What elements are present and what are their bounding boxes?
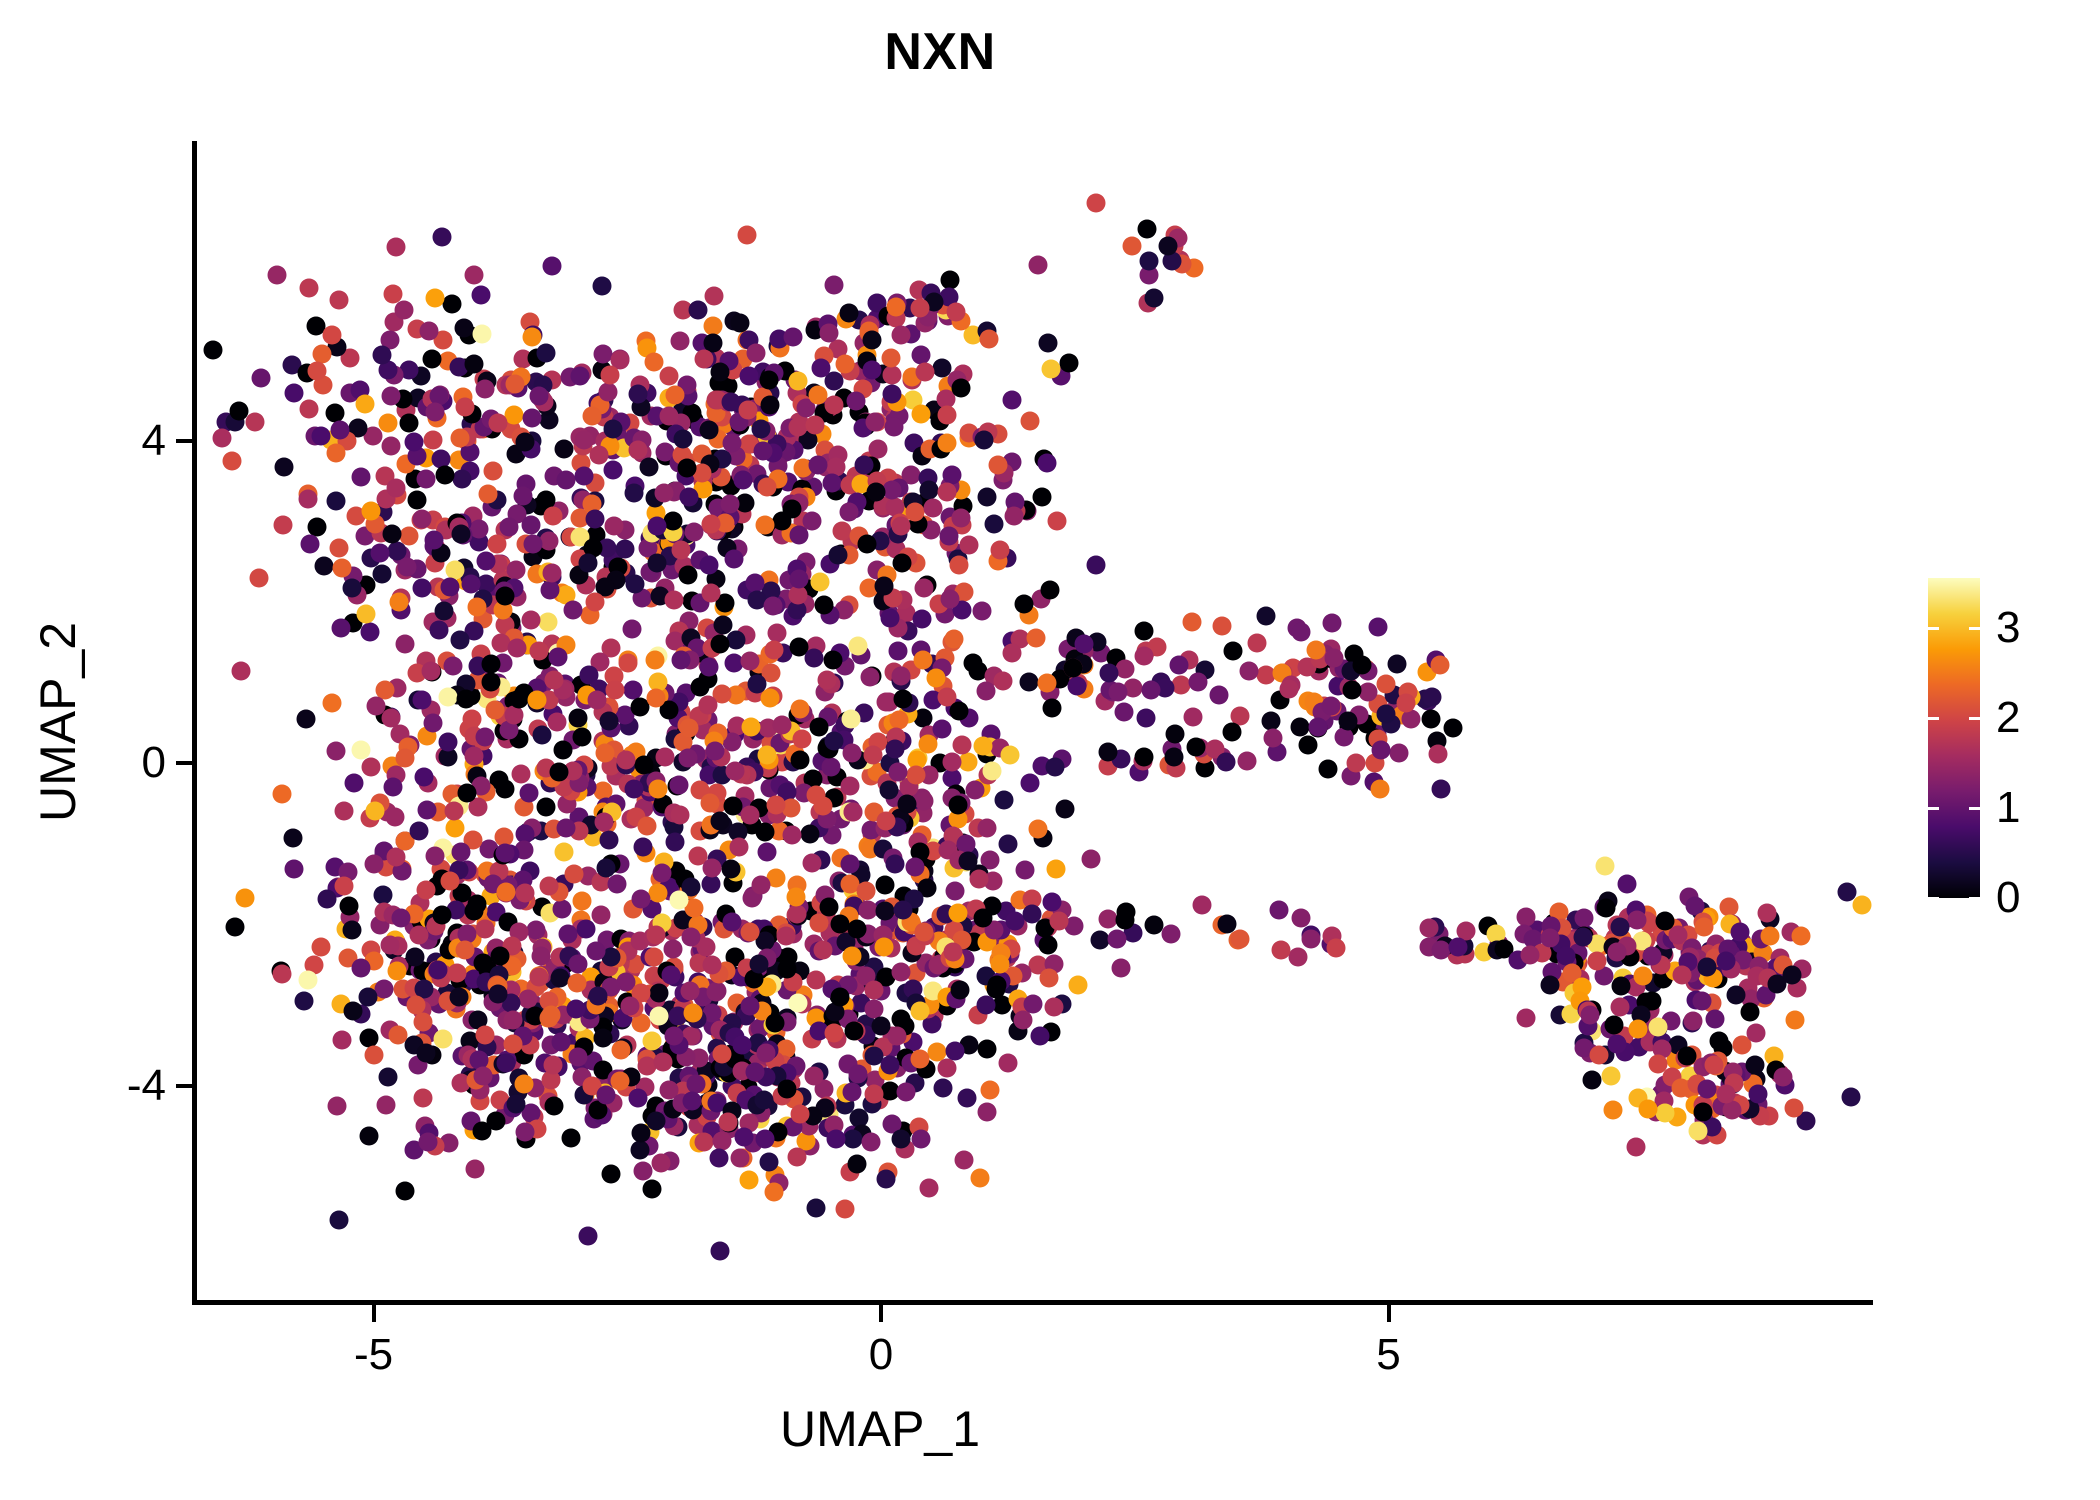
scatter-point bbox=[765, 640, 784, 659]
scatter-point bbox=[301, 535, 320, 554]
scatter-point bbox=[1116, 659, 1135, 678]
scatter-point bbox=[465, 1159, 484, 1178]
scatter-point bbox=[343, 1001, 362, 1020]
scatter-point bbox=[655, 483, 674, 502]
scatter-point bbox=[604, 516, 623, 535]
scatter-point bbox=[495, 844, 514, 863]
scatter-point bbox=[865, 1084, 884, 1103]
scatter-point bbox=[327, 491, 346, 510]
scatter-point bbox=[391, 908, 410, 927]
scatter-point bbox=[1159, 236, 1178, 255]
scatter-point bbox=[586, 509, 605, 528]
scatter-point bbox=[1626, 1138, 1645, 1157]
scatter-point bbox=[836, 1199, 855, 1218]
scatter-point bbox=[621, 997, 640, 1016]
scatter-point bbox=[860, 668, 879, 687]
scatter-point bbox=[765, 1183, 784, 1202]
scatter-point bbox=[952, 378, 971, 397]
scatter-point bbox=[938, 482, 957, 501]
scatter-point bbox=[252, 369, 271, 388]
scatter-point bbox=[568, 1047, 587, 1066]
scatter-point bbox=[841, 855, 860, 874]
scatter-point bbox=[622, 619, 641, 638]
scatter-point bbox=[484, 462, 503, 481]
scatter-point bbox=[1587, 952, 1606, 971]
scatter-point bbox=[978, 819, 997, 838]
scatter-point bbox=[1029, 255, 1048, 274]
scatter-point bbox=[585, 592, 604, 611]
scatter-point bbox=[296, 709, 315, 728]
scatter-point bbox=[567, 974, 586, 993]
scatter-point bbox=[1145, 289, 1164, 308]
scatter-point bbox=[523, 328, 542, 347]
scatter-point bbox=[1401, 710, 1420, 729]
scatter-point bbox=[1678, 1047, 1697, 1066]
scatter-point bbox=[597, 859, 616, 878]
scatter-point bbox=[919, 1178, 938, 1197]
scatter-point bbox=[1111, 959, 1130, 978]
scatter-point bbox=[417, 800, 436, 819]
x-tick-mark bbox=[1387, 1305, 1391, 1322]
scatter-point bbox=[713, 1045, 732, 1064]
scatter-point bbox=[777, 960, 796, 979]
scatter-point bbox=[1001, 746, 1020, 765]
scatter-point bbox=[938, 405, 957, 424]
scatter-point bbox=[1264, 728, 1283, 747]
scatter-point bbox=[654, 1053, 673, 1072]
scatter-point bbox=[477, 552, 496, 571]
scatter-point bbox=[990, 955, 1009, 974]
scatter-point bbox=[1239, 662, 1258, 681]
scatter-point bbox=[777, 926, 796, 945]
scatter-point bbox=[700, 556, 719, 575]
scatter-point bbox=[710, 1148, 729, 1167]
scatter-point bbox=[876, 902, 895, 921]
scatter-point bbox=[671, 540, 690, 559]
scatter-point bbox=[914, 923, 933, 942]
scatter-point bbox=[413, 579, 432, 598]
scatter-point bbox=[783, 327, 802, 346]
scatter-point bbox=[856, 882, 875, 901]
scatter-point bbox=[373, 885, 392, 904]
scatter-point bbox=[512, 765, 531, 784]
scatter-point bbox=[479, 484, 498, 503]
scatter-point bbox=[710, 634, 729, 653]
scatter-point bbox=[351, 959, 370, 978]
colorbar-tick-label: 1 bbox=[1996, 783, 2020, 833]
scatter-point bbox=[1090, 931, 1109, 950]
scatter-point bbox=[567, 1000, 586, 1019]
scatter-point bbox=[395, 1182, 414, 1201]
scatter-point bbox=[801, 824, 820, 843]
scatter-point bbox=[701, 794, 720, 813]
scatter-point bbox=[883, 366, 902, 385]
scatter-point bbox=[424, 530, 443, 549]
scatter-point bbox=[953, 735, 972, 754]
x-tick-label: 5 bbox=[1309, 1330, 1469, 1380]
scatter-point bbox=[497, 883, 516, 902]
scatter-point bbox=[615, 539, 634, 558]
scatter-point bbox=[557, 818, 576, 837]
scatter-point bbox=[544, 1097, 563, 1116]
scatter-point bbox=[1193, 896, 1212, 915]
scatter-point bbox=[394, 301, 413, 320]
scatter-point bbox=[937, 433, 956, 452]
scatter-point bbox=[806, 416, 825, 435]
scatter-point bbox=[824, 650, 843, 669]
scatter-point bbox=[911, 1002, 930, 1021]
scatter-point bbox=[1608, 942, 1627, 961]
scatter-point bbox=[820, 897, 839, 916]
colorbar-tick-mark bbox=[1969, 807, 1980, 810]
scatter-point bbox=[732, 1035, 751, 1054]
scatter-point bbox=[887, 1026, 906, 1045]
scatter-point bbox=[578, 554, 597, 573]
scatter-point bbox=[738, 225, 757, 244]
scatter-point bbox=[1338, 712, 1357, 731]
scatter-point bbox=[544, 507, 563, 526]
scatter-point bbox=[212, 429, 231, 448]
scatter-point bbox=[1004, 507, 1023, 526]
scatter-point bbox=[950, 980, 969, 999]
scatter-point bbox=[330, 538, 349, 557]
y-tick-label: 4 bbox=[46, 416, 166, 466]
scatter-point bbox=[506, 1094, 525, 1113]
scatter-point bbox=[381, 708, 400, 727]
scatter-point bbox=[245, 412, 264, 431]
scatter-point bbox=[445, 802, 464, 821]
scatter-point bbox=[399, 413, 418, 432]
scatter-point bbox=[1420, 918, 1439, 937]
scatter-point bbox=[735, 1127, 754, 1146]
scatter-point bbox=[358, 988, 377, 1007]
colorbar-tick-label: 0 bbox=[1996, 873, 2020, 923]
scatter-point bbox=[1444, 718, 1463, 737]
scatter-point bbox=[426, 846, 445, 865]
colorbar-tick-mark bbox=[1969, 717, 1980, 720]
scatter-point bbox=[1748, 1085, 1767, 1104]
scatter-point bbox=[553, 900, 572, 919]
scatter-point bbox=[631, 1140, 650, 1159]
scatter-point bbox=[824, 276, 843, 295]
scatter-point bbox=[824, 395, 843, 414]
scatter-point bbox=[1327, 938, 1346, 957]
scatter-point bbox=[883, 385, 902, 404]
scatter-point bbox=[843, 1130, 862, 1149]
scatter-point bbox=[885, 854, 904, 873]
scatter-point bbox=[670, 331, 689, 350]
scatter-point bbox=[1021, 774, 1040, 793]
scatter-point bbox=[366, 801, 385, 820]
scatter-point bbox=[1038, 674, 1057, 693]
x-tick-mark bbox=[879, 1305, 883, 1322]
scatter-point bbox=[516, 1123, 535, 1142]
scatter-point bbox=[1757, 904, 1776, 923]
scatter-point bbox=[740, 923, 759, 942]
scatter-point bbox=[1643, 947, 1662, 966]
scatter-point bbox=[633, 837, 652, 856]
scatter-point bbox=[637, 817, 656, 836]
scatter-point bbox=[814, 796, 833, 815]
scatter-point bbox=[674, 429, 693, 448]
scatter-point bbox=[361, 501, 380, 520]
scatter-point bbox=[1605, 1015, 1624, 1034]
scatter-point bbox=[924, 498, 943, 517]
scatter-point bbox=[817, 670, 836, 689]
scatter-point bbox=[423, 349, 442, 368]
scatter-point bbox=[575, 466, 594, 485]
scatter-point bbox=[522, 610, 541, 629]
scatter-point bbox=[979, 330, 998, 349]
scatter-point bbox=[469, 798, 488, 817]
scatter-point bbox=[603, 419, 622, 438]
scatter-point bbox=[343, 921, 362, 940]
scatter-point bbox=[283, 828, 302, 847]
scatter-point bbox=[990, 541, 1009, 560]
scatter-point bbox=[948, 903, 967, 922]
scatter-point bbox=[1033, 488, 1052, 507]
scatter-point bbox=[739, 367, 758, 386]
scatter-point bbox=[495, 587, 514, 606]
scatter-point bbox=[1031, 1026, 1050, 1045]
scatter-point bbox=[847, 920, 866, 939]
x-tick-mark bbox=[372, 1305, 376, 1322]
scatter-point bbox=[950, 702, 969, 721]
scatter-point bbox=[773, 716, 792, 735]
scatter-point bbox=[1541, 976, 1560, 995]
scatter-point bbox=[1740, 1003, 1759, 1022]
scatter-point bbox=[858, 901, 877, 920]
scatter-point bbox=[482, 654, 501, 673]
scatter-point bbox=[881, 1056, 900, 1075]
scatter-point bbox=[1704, 1055, 1723, 1074]
scatter-point bbox=[548, 713, 567, 732]
scatter-point bbox=[748, 674, 767, 693]
scatter-point bbox=[617, 751, 636, 770]
scatter-point bbox=[1695, 918, 1714, 937]
scatter-point bbox=[809, 914, 828, 933]
scatter-point bbox=[910, 298, 929, 317]
x-tick-label: -5 bbox=[294, 1330, 454, 1380]
scatter-point bbox=[664, 940, 683, 959]
colorbar-tick-label: 3 bbox=[1996, 603, 2020, 653]
scatter-point bbox=[864, 980, 883, 999]
scatter-point bbox=[1162, 925, 1181, 944]
scatter-point bbox=[576, 920, 595, 939]
scatter-point bbox=[1322, 697, 1341, 716]
scatter-point bbox=[572, 727, 591, 746]
scatter-point bbox=[1134, 647, 1153, 666]
scatter-point bbox=[579, 1226, 598, 1245]
scatter-point bbox=[1075, 634, 1094, 653]
scatter-point bbox=[444, 656, 463, 675]
scatter-point bbox=[865, 412, 884, 431]
scatter-point bbox=[843, 947, 862, 966]
scatter-point bbox=[874, 576, 893, 595]
scatter-point bbox=[556, 471, 575, 490]
scatter-point bbox=[791, 750, 810, 769]
scatter-point bbox=[1791, 927, 1810, 946]
scatter-point bbox=[1747, 1024, 1766, 1043]
scatter-point bbox=[408, 490, 427, 509]
scatter-point bbox=[644, 353, 663, 372]
x-axis-line bbox=[192, 1300, 1873, 1305]
scatter-point bbox=[1698, 958, 1717, 977]
scatter-point bbox=[839, 503, 858, 522]
scatter-point bbox=[1188, 673, 1207, 692]
scatter-point bbox=[723, 912, 742, 931]
scatter-point bbox=[1557, 947, 1576, 966]
scatter-point bbox=[910, 1050, 929, 1069]
scatter-point bbox=[987, 975, 1006, 994]
scatter-point bbox=[322, 325, 341, 344]
scatter-point bbox=[977, 487, 996, 506]
scatter-point bbox=[760, 689, 779, 708]
scatter-point bbox=[544, 670, 563, 689]
colorbar-tick-mark bbox=[1928, 897, 1939, 900]
scatter-point bbox=[1786, 1011, 1805, 1030]
scatter-point bbox=[298, 489, 317, 508]
scatter-point bbox=[906, 765, 925, 784]
scatter-point bbox=[877, 812, 896, 831]
scatter-point bbox=[519, 784, 538, 803]
colorbar-tick-mark bbox=[1928, 627, 1939, 630]
scatter-point bbox=[749, 954, 768, 973]
scatter-point bbox=[876, 693, 895, 712]
scatter-point bbox=[1247, 633, 1266, 652]
scatter-point bbox=[933, 1078, 952, 1097]
scatter-point bbox=[600, 711, 619, 730]
scatter-point bbox=[410, 822, 429, 841]
scatter-point bbox=[551, 1033, 570, 1052]
scatter-point bbox=[456, 397, 475, 416]
scatter-point bbox=[651, 1153, 670, 1172]
scatter-point bbox=[947, 302, 966, 321]
scatter-point bbox=[1618, 874, 1637, 893]
scatter-point bbox=[766, 1014, 785, 1033]
scatter-point bbox=[472, 1122, 491, 1141]
scatter-point bbox=[1050, 911, 1069, 930]
scatter-point bbox=[1142, 681, 1161, 700]
scatter-point bbox=[940, 589, 959, 608]
scatter-point bbox=[687, 1075, 706, 1094]
scatter-point bbox=[812, 359, 831, 378]
scatter-point bbox=[322, 693, 341, 712]
scatter-point bbox=[755, 1090, 774, 1109]
scatter-point bbox=[912, 405, 931, 424]
scatter-point bbox=[372, 345, 391, 364]
scatter-point bbox=[457, 783, 476, 802]
scatter-point bbox=[702, 584, 721, 603]
scatter-point bbox=[505, 705, 524, 724]
scatter-point bbox=[515, 1074, 534, 1093]
scatter-point bbox=[574, 430, 593, 449]
scatter-point bbox=[757, 745, 776, 764]
scatter-point bbox=[433, 227, 452, 246]
scatter-point bbox=[1611, 976, 1630, 995]
scatter-point bbox=[1688, 1122, 1707, 1141]
scatter-point bbox=[1164, 748, 1183, 767]
scatter-point bbox=[960, 535, 979, 554]
scatter-point bbox=[964, 654, 983, 673]
scatter-point bbox=[1140, 251, 1159, 270]
scatter-point bbox=[1429, 745, 1448, 764]
scatter-point bbox=[655, 748, 674, 767]
scatter-point bbox=[489, 414, 508, 433]
scatter-point bbox=[1369, 617, 1388, 636]
scatter-point bbox=[562, 1129, 581, 1148]
scatter-point bbox=[951, 509, 970, 528]
scatter-point bbox=[915, 579, 934, 598]
scatter-point bbox=[465, 747, 484, 766]
scatter-point bbox=[452, 470, 471, 489]
scatter-point bbox=[572, 891, 591, 910]
scatter-point bbox=[832, 522, 851, 541]
scatter-point bbox=[531, 946, 550, 965]
scatter-point bbox=[357, 604, 376, 623]
scatter-point bbox=[699, 657, 718, 676]
scatter-point bbox=[388, 1026, 407, 1045]
scatter-point bbox=[424, 713, 443, 732]
scatter-point bbox=[360, 1127, 379, 1146]
scatter-point bbox=[978, 1103, 997, 1122]
scatter-point bbox=[659, 367, 678, 386]
scatter-points-layer bbox=[196, 141, 1872, 1302]
scatter-point bbox=[1608, 1034, 1627, 1053]
scatter-point bbox=[1069, 976, 1088, 995]
scatter-point bbox=[643, 1032, 662, 1051]
scatter-point bbox=[1166, 724, 1185, 743]
scatter-point bbox=[588, 691, 607, 710]
scatter-point bbox=[588, 986, 607, 1005]
scatter-point bbox=[891, 1130, 910, 1149]
scatter-point bbox=[1655, 1104, 1674, 1123]
scatter-point bbox=[446, 560, 465, 579]
scatter-point bbox=[1184, 708, 1203, 727]
scatter-point bbox=[419, 321, 438, 340]
scatter-point bbox=[331, 421, 350, 440]
scatter-point bbox=[790, 699, 809, 718]
scatter-point bbox=[1038, 454, 1057, 473]
y-tick-mark bbox=[176, 761, 192, 765]
scatter-point bbox=[443, 295, 462, 314]
scatter-point bbox=[1056, 800, 1075, 819]
scatter-point bbox=[1046, 860, 1065, 879]
scatter-point bbox=[1288, 948, 1307, 967]
scatter-point bbox=[649, 984, 668, 1003]
scatter-point bbox=[412, 690, 431, 709]
scatter-point bbox=[326, 742, 345, 761]
scatter-point bbox=[653, 863, 672, 882]
scatter-point bbox=[1210, 686, 1229, 705]
scatter-point bbox=[298, 970, 317, 989]
scatter-point bbox=[456, 941, 475, 960]
scatter-point bbox=[906, 502, 925, 521]
scatter-point bbox=[757, 1044, 776, 1063]
scatter-point bbox=[405, 947, 424, 966]
scatter-point bbox=[440, 871, 459, 890]
colorbar-tick-mark bbox=[1928, 717, 1939, 720]
scatter-point bbox=[1706, 1010, 1725, 1029]
scatter-point bbox=[733, 471, 752, 490]
scatter-point bbox=[807, 1198, 826, 1217]
scatter-point bbox=[646, 926, 665, 945]
scatter-point bbox=[912, 610, 931, 629]
scatter-point bbox=[1390, 744, 1409, 763]
scatter-point bbox=[592, 905, 611, 924]
scatter-point bbox=[826, 1130, 845, 1149]
scatter-point bbox=[1040, 968, 1059, 987]
